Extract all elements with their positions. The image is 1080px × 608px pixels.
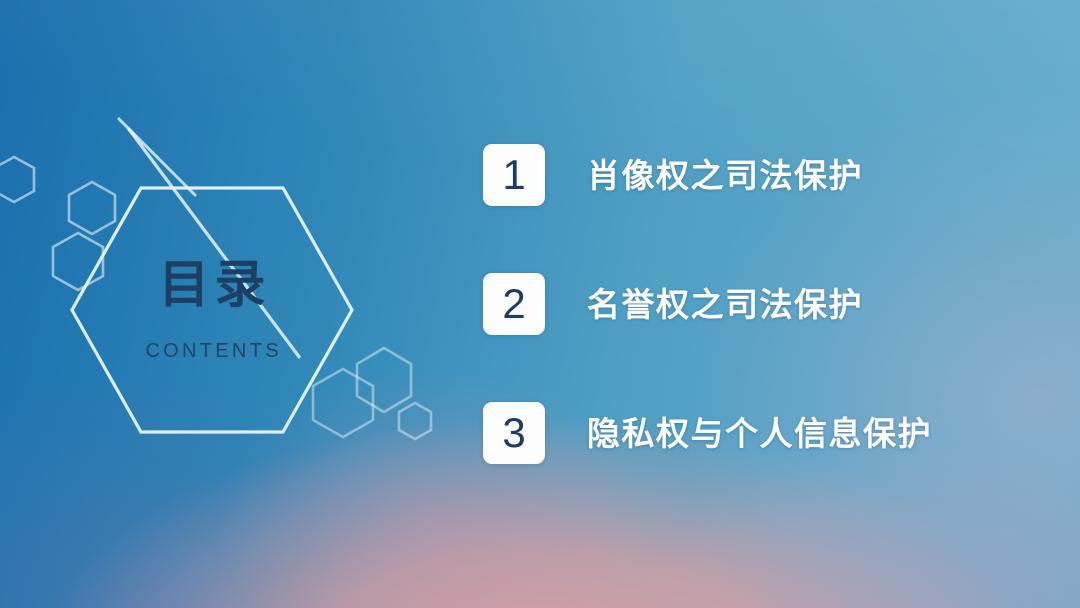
agenda-list: 1 肖像权之司法保护 2 名誉权之司法保护 3 隐私权与个人信息保护 xyxy=(483,140,1043,468)
decorative-hexagon-small-left-edge xyxy=(0,157,34,202)
decorative-diagonal-line-upper xyxy=(118,118,196,196)
agenda-label-3: 隐私权与个人信息保护 xyxy=(587,417,932,450)
agenda-number-badge-3: 3 xyxy=(483,402,545,464)
agenda-label-2: 名誉权之司法保护 xyxy=(587,288,863,321)
agenda-number-badge-1: 1 xyxy=(483,144,545,206)
decorative-hexagon-lower-small xyxy=(399,403,431,439)
decorative-hexagon-lower-left-large xyxy=(357,348,411,412)
page-title-en: CONTENTS xyxy=(142,341,282,361)
agenda-number-badge-2: 2 xyxy=(483,273,545,335)
contents-hexagon-text-group: 目录 CONTENTS xyxy=(70,186,354,434)
agenda-item-1[interactable]: 1 肖像权之司法保护 xyxy=(483,140,1043,210)
agenda-item-2[interactable]: 2 名誉权之司法保护 xyxy=(483,269,1043,339)
contents-slide: 目录 CONTENTS 1 肖像权之司法保护 2 名誉权之司法保护 3 隐私权与… xyxy=(0,0,1080,608)
page-title-cn: 目录 xyxy=(153,260,270,311)
agenda-label-1: 肖像权之司法保护 xyxy=(587,159,863,192)
agenda-item-3[interactable]: 3 隐私权与个人信息保护 xyxy=(483,398,1043,468)
